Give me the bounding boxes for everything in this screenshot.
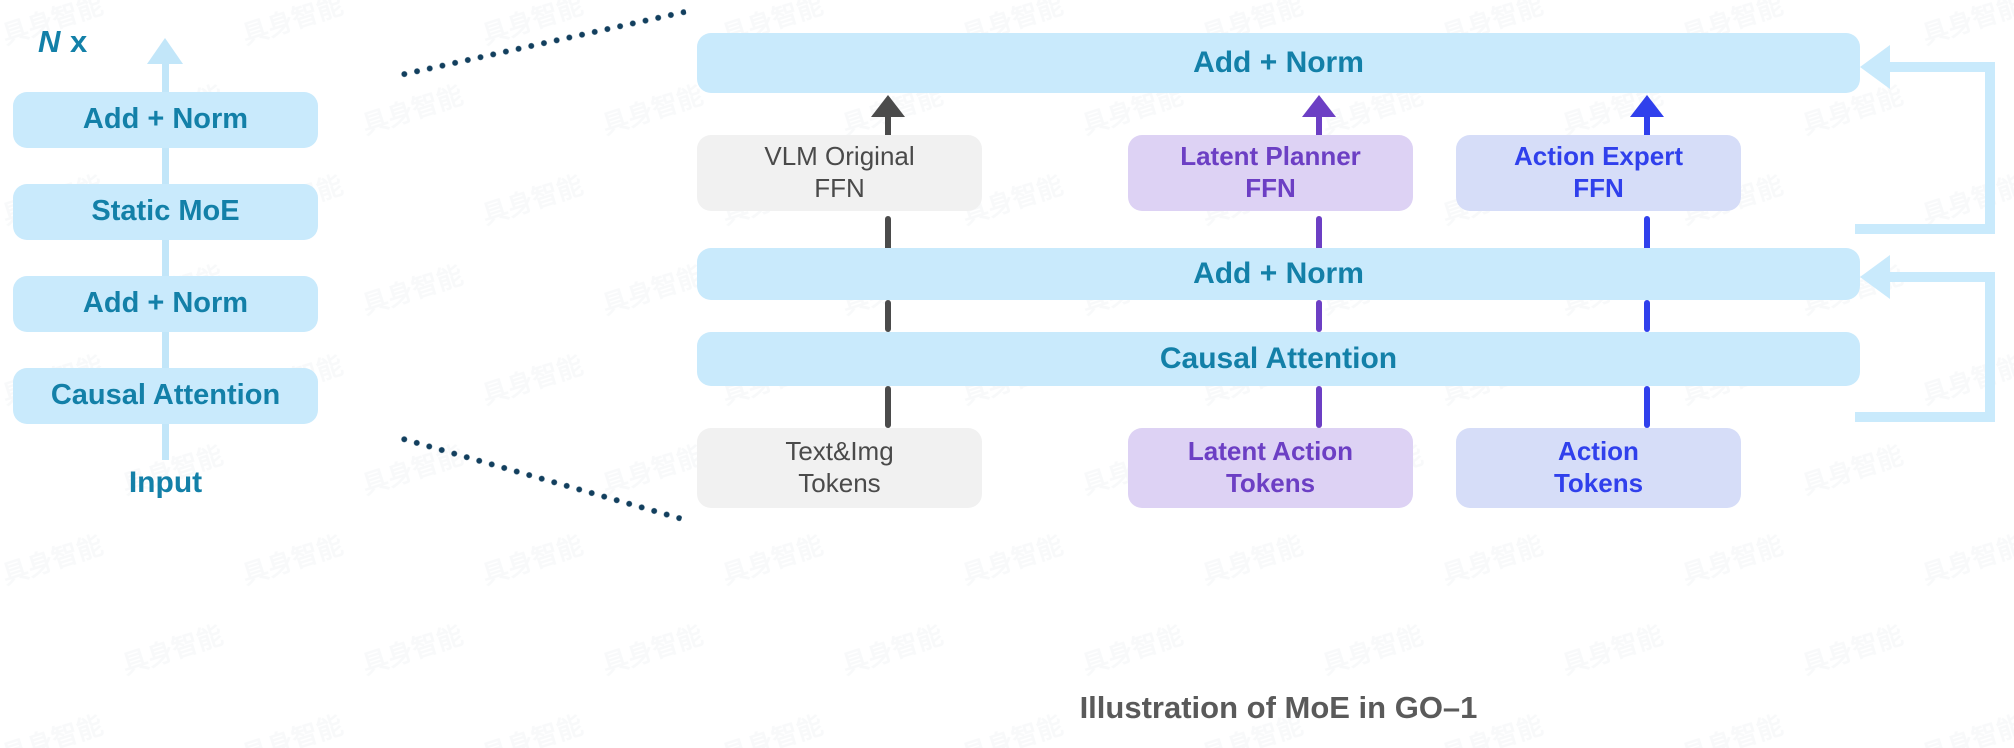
residual-lower-vertical bbox=[1985, 272, 1995, 422]
action-token-stem bbox=[1644, 386, 1650, 428]
right-moe-detail: Add + Norm VLM Original FFN Latent Plann… bbox=[0, 0, 2014, 748]
residual-lower-horizontal-bottom bbox=[1855, 412, 1995, 422]
latent-action-token-stem bbox=[1316, 386, 1322, 428]
expert-action-expert-ffn[interactable]: Action Expert FFN bbox=[1456, 135, 1741, 211]
top-add-norm-block[interactable]: Add + Norm bbox=[697, 33, 1860, 93]
latent-attn-out-stem bbox=[1316, 300, 1322, 332]
residual-lower-arrowhead bbox=[1860, 255, 1890, 299]
figure-caption: Illustration of MoE in GO–1 bbox=[697, 690, 1860, 726]
vlm-ffn-input-stem bbox=[885, 216, 891, 251]
action-attn-out-stem bbox=[1644, 300, 1650, 332]
vlm-attn-out-stem bbox=[885, 300, 891, 332]
causal-attention-block[interactable]: Causal Attention bbox=[697, 332, 1860, 386]
expert-vlm-original-ffn[interactable]: VLM Original FFN bbox=[697, 135, 982, 211]
residual-upper-horizontal-top bbox=[1890, 62, 1990, 72]
residual-upper-vertical bbox=[1985, 62, 1995, 234]
token-latent-action[interactable]: Latent Action Tokens bbox=[1128, 428, 1413, 508]
latent-planner-input-stem bbox=[1316, 216, 1322, 251]
token-action[interactable]: Action Tokens bbox=[1456, 428, 1741, 508]
token-text-img[interactable]: Text&Img Tokens bbox=[697, 428, 982, 508]
mid-add-norm-block[interactable]: Add + Norm bbox=[697, 248, 1860, 300]
residual-upper-horizontal-bottom bbox=[1855, 224, 1995, 234]
expert-latent-planner-ffn[interactable]: Latent Planner FFN bbox=[1128, 135, 1413, 211]
residual-upper-arrowhead bbox=[1860, 45, 1890, 89]
action-expert-input-stem bbox=[1644, 216, 1650, 251]
diagram-canvas: 具身智能具身智能具身智能具身智能具身智能具身智能具身智能具身智能具身智能具身智能… bbox=[0, 0, 2014, 748]
text-img-token-stem bbox=[885, 386, 891, 428]
residual-lower-horizontal-top bbox=[1890, 272, 1990, 282]
